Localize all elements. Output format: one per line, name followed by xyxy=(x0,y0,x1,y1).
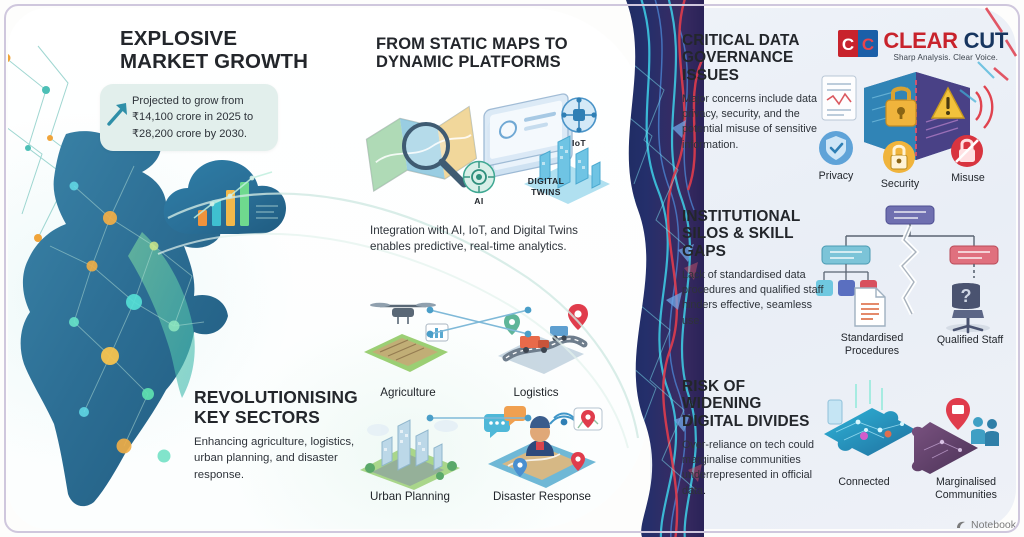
governance-body-text: Major concerns include data privacy, sec… xyxy=(682,92,818,153)
sectors-heading-line1: REVOLUTIONISING xyxy=(194,388,384,408)
label-standardised-procedures: Standardised Procedures xyxy=(824,332,920,357)
growth-callout-box: Projected to grow from ₹14,100 crore in … xyxy=(100,84,278,151)
label-disaster-response: Disaster Response xyxy=(480,490,604,504)
brand-logo: C C CLEARCUT Sharp Analysis. Clear Voice… xyxy=(838,30,1008,62)
label-misuse: Misuse xyxy=(936,172,1000,185)
label-qualified-staff: Qualified Staff xyxy=(936,334,1004,347)
misuse-blocked-lock-icon xyxy=(950,134,984,168)
governance-heading-line1: CRITICAL DATA xyxy=(682,32,818,49)
block-institutional-silos: INSTITUTIONAL SILOS & SKILL GAPS Lack of… xyxy=(682,208,832,329)
svg-text:?: ? xyxy=(961,286,972,306)
logo-mark-left-letter: C xyxy=(842,35,854,54)
sectors-heading-line2: KEY SECTORS xyxy=(194,408,384,428)
notebooklm-watermark: Notebook xyxy=(955,519,1016,531)
block-explosive-market-growth: EXPLOSIVE MARKET GROWTH xyxy=(120,28,370,74)
standardised-procedures-document-icon xyxy=(852,286,888,328)
label-agriculture: Agriculture xyxy=(360,386,456,400)
logo-mark-right: C xyxy=(858,30,878,57)
maps-heading-line1: FROM STATIC MAPS TO xyxy=(376,35,616,53)
label-iot: IoT xyxy=(556,138,602,148)
growth-callout-text: Projected to grow from ₹14,100 crore in … xyxy=(132,93,268,142)
maps-heading-line2: DYNAMIC PLATFORMS xyxy=(376,53,616,71)
watermark-label: Notebook xyxy=(971,519,1016,531)
label-urban-planning: Urban Planning xyxy=(356,490,464,504)
silos-heading-line2: SILOS & SKILL GAPS xyxy=(682,225,832,260)
block-critical-data-governance: CRITICAL DATA GOVERNANCE ISSUES Major co… xyxy=(682,32,818,153)
infographic-canvas: EXPLOSIVE MARKET GROWTH Projected to gro… xyxy=(0,0,1024,537)
logo-mark-icon: C C xyxy=(838,30,878,57)
logo-word-cut: CUT xyxy=(964,28,1008,53)
label-digital-twins: DIGITALTWINS xyxy=(514,176,578,197)
document-stack-icon xyxy=(822,76,856,120)
label-connected: Connected xyxy=(824,476,904,489)
notebooklm-logo-icon xyxy=(955,519,967,531)
label-security: Security xyxy=(866,178,934,191)
sector-connector-lines xyxy=(378,300,598,460)
block-revolutionising-key-sectors: REVOLUTIONISING KEY SECTORS Enhancing ag… xyxy=(194,388,384,483)
maps-body-text: Integration with AI, IoT, and Digital Tw… xyxy=(370,223,600,256)
governance-heading-line3: ISSUES xyxy=(682,67,818,84)
logo-wordmark: CLEARCUT xyxy=(883,30,1008,52)
sectors-body-text: Enhancing agriculture, logistics, urban … xyxy=(194,434,384,483)
privacy-shield-icon xyxy=(818,130,854,166)
governance-heading-line2: GOVERNANCE xyxy=(682,49,818,66)
qualified-staff-chair-icon: ? xyxy=(940,280,996,334)
location-pin-icon xyxy=(946,398,970,430)
block-maps-body: Integration with AI, IoT, and Digital Tw… xyxy=(370,223,600,256)
block-digital-divides: RISK OF WIDENING DIGITAL DIVIDES Over-re… xyxy=(682,378,828,499)
divides-body-text: Over-reliance on tech could marginalise … xyxy=(682,438,828,499)
growth-heading-line2: MARKET GROWTH xyxy=(120,51,370,74)
silos-heading-line1: INSTITUTIONAL xyxy=(682,208,832,225)
logo-tagline: Sharp Analysis. Clear Voice. xyxy=(883,53,1008,62)
divides-heading-line2: DIGITAL DIVIDES xyxy=(682,413,828,430)
growth-heading-line1: EXPLOSIVE xyxy=(120,28,370,51)
digital-divide-illustration xyxy=(818,378,1016,488)
growth-arrow-icon xyxy=(106,100,130,126)
block-static-to-dynamic: FROM STATIC MAPS TO DYNAMIC PLATFORMS xyxy=(376,35,616,72)
logo-word-clear: CLEAR xyxy=(883,28,957,53)
left-main-panel: EXPLOSIVE MARKET GROWTH Projected to gro… xyxy=(8,8,648,529)
label-ai: AI xyxy=(460,196,498,206)
silos-body-text: Lack of standardised data procedures and… xyxy=(682,268,832,329)
label-marginalised-communities: Marginalised Communities xyxy=(920,476,1012,501)
divides-heading-line1: RISK OF WIDENING xyxy=(682,378,828,413)
people-icon xyxy=(971,417,999,446)
logo-mark-left: C xyxy=(838,30,858,57)
logo-mark-right-letter: C xyxy=(862,35,874,54)
logo-text: CLEARCUT Sharp Analysis. Clear Voice. xyxy=(883,30,1008,62)
label-logistics: Logistics xyxy=(488,386,584,400)
security-lock-icon xyxy=(882,140,916,174)
label-privacy: Privacy xyxy=(802,170,870,183)
